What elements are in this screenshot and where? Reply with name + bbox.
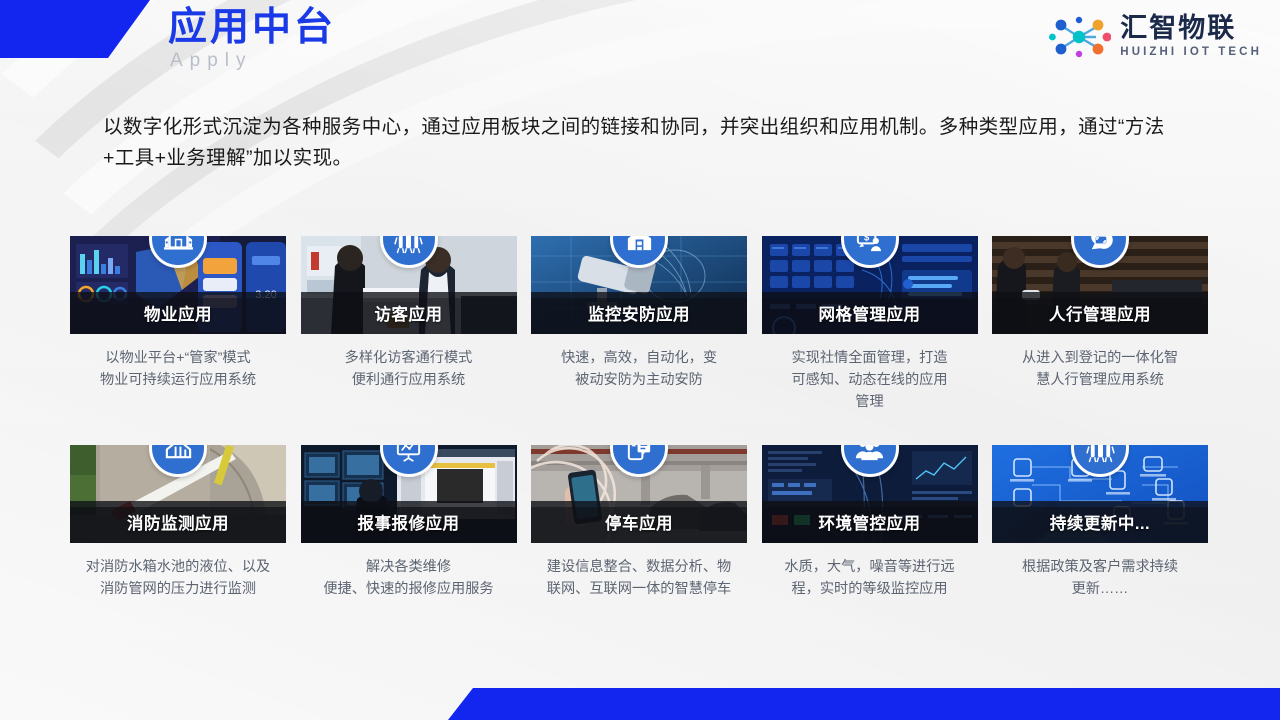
card-thumbnail: 网格管理应用 $ (762, 236, 978, 334)
card-title: 停车应用 (605, 510, 673, 534)
card-title-band: 物业应用 (70, 292, 286, 334)
card-description: 解决各类维修 便捷、快速的报修应用服务 (301, 556, 517, 600)
card-title-band: 访客应用 (301, 292, 517, 334)
card-row: 消防监测应用 对消防水箱水池的液位、以及 消防管网的压力进行监测 (70, 445, 1212, 600)
card-title: 环境管控应用 (819, 510, 921, 534)
card-title: 持续更新中... (1050, 510, 1150, 534)
card-title: 人行管理应用 (1049, 301, 1151, 325)
card-description: 多样化访客通行模式 便利通行应用系统 (301, 347, 517, 391)
app-card-property[interactable]: 3.20 物业应用 以物业平台+“管家”模 (70, 236, 286, 413)
app-card-repair-report[interactable]: 报事报修应用 解决各类维修 便捷、快速的报修应用服务 (301, 445, 517, 600)
card-title-band: 人行管理应用 (992, 292, 1208, 334)
card-row: 3.20 物业应用 以物业平台+“管家”模 (70, 236, 1212, 413)
card-thumbnail: 报事报修应用 (301, 445, 517, 543)
app-card-surveillance[interactable]: 监控安防应用 快速，高效，自动化，变 被动安防为主动安防 (531, 236, 747, 413)
page-title: 应用中台 (168, 5, 336, 51)
app-card-continuous-update[interactable]: 持续更新中... 根据政策及客户需求持续 更新…… (992, 445, 1208, 600)
app-card-pedestrian[interactable]: 人行管理应用 从进入到登记的一体化智 慧人行管理应用系统 (992, 236, 1208, 413)
card-title-band: 报事报修应用 (301, 501, 517, 543)
card-title-band: 持续更新中... (992, 501, 1208, 543)
card-title: 访客应用 (375, 301, 443, 325)
card-title-band: 环境管控应用 (762, 501, 978, 543)
card-thumbnail: 监控安防应用 (531, 236, 747, 334)
card-description: 实现社情全面管理，打造 可感知、动态在线的应用 管理 (762, 347, 978, 413)
footer-accent-bar (448, 688, 1280, 720)
card-description: 从进入到登记的一体化智 慧人行管理应用系统 (992, 347, 1208, 391)
svg-text:$: $ (864, 236, 870, 243)
app-card-grid-management[interactable]: 网格管理应用 $ 实现社情全面管理，打造 可感知、动态在线的应用 管理 (762, 236, 978, 413)
card-description: 建设信息整合、数据分析、物 联网、互联网一体的智慧停车 (531, 556, 747, 600)
card-thumbnail: 环境管控应用 (762, 445, 978, 543)
app-card-fire-monitoring[interactable]: 消防监测应用 对消防水箱水池的液位、以及 消防管网的压力进行监测 (70, 445, 286, 600)
card-title: 消防监测应用 (127, 510, 229, 534)
card-thumbnail: 消防监测应用 (70, 445, 286, 543)
logo-name-en: HUIZHI IOT TECH (1120, 47, 1262, 59)
card-description: 对消防水箱水池的液位、以及 消防管网的压力进行监测 (70, 556, 286, 600)
app-card-parking[interactable]: 停车应用 建设信息整合、数据分析、物 联网、互联网一体的智慧停车 (531, 445, 747, 600)
card-description: 水质，大气，噪音等进行远 程，实时的等级监控应用 (762, 556, 978, 600)
application-grid: 3.20 物业应用 以物业平台+“管家”模 (70, 236, 1212, 600)
brand-logo: 汇智物联 HUIZHI IOT TECH (1049, 14, 1262, 60)
card-thumbnail: 人行管理应用 (992, 236, 1208, 334)
card-title: 监控安防应用 (588, 301, 690, 325)
card-title: 报事报修应用 (358, 510, 460, 534)
card-thumbnail: 访客应用 (301, 236, 517, 334)
card-description: 根据政策及客户需求持续 更新…… (992, 556, 1208, 600)
molecule-network-icon (1049, 14, 1111, 60)
card-title-band: 停车应用 (531, 501, 747, 543)
page-subtitle: Apply (170, 50, 253, 72)
app-card-visitor[interactable]: 访客应用 多样化访客通行模式 便利通行应用系统 (301, 236, 517, 413)
card-title: 网格管理应用 (819, 301, 921, 325)
card-description: 快速，高效，自动化，变 被动安防为主动安防 (531, 347, 747, 391)
intro-paragraph: 以数字化形式沉淀为各种服务中心，通过应用板块之间的链接和协同，并突出组织和应用机… (103, 112, 1173, 174)
card-thumbnail: 3.20 物业应用 (70, 236, 286, 334)
card-thumbnail: 停车应用 (531, 445, 747, 543)
card-description: 以物业平台+“管家”模式 物业可持续运行应用系统 (70, 347, 286, 391)
card-thumbnail: 持续更新中... (992, 445, 1208, 543)
app-card-environment[interactable]: 环境管控应用 水质，大气，噪音等进行远 程，实时的等级监控应用 (762, 445, 978, 600)
card-title-band: 网格管理应用 (762, 292, 978, 334)
card-title-band: 监控安防应用 (531, 292, 747, 334)
logo-name-cn: 汇智物联 (1120, 15, 1262, 42)
card-title-band: 消防监测应用 (70, 501, 286, 543)
card-title: 物业应用 (144, 301, 212, 325)
